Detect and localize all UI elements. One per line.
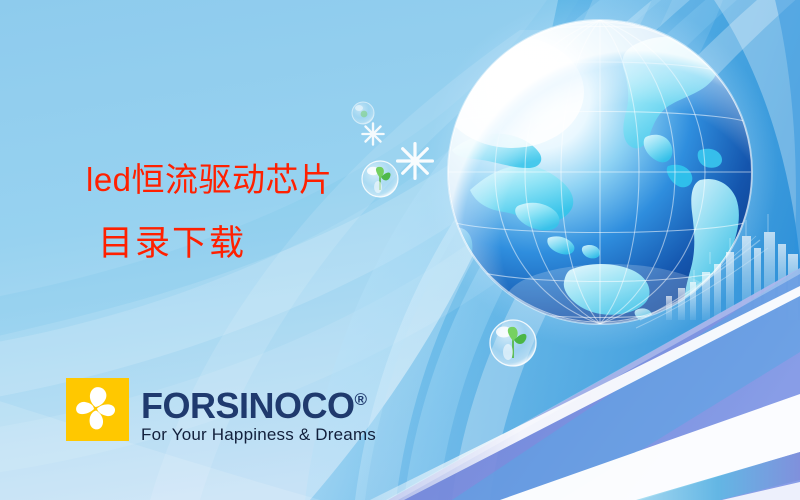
headline-line-2: 目录下载 — [98, 224, 333, 264]
banner-image: led恒流驱动芯片 目录下载 FORSINOCO® For Your Happi… — [0, 0, 800, 500]
logo-wordmark: FORSINOCO® — [141, 382, 376, 424]
headline-line-1: led恒流驱动芯片 — [86, 160, 333, 200]
logo-wordmark-text: FORSINOCO — [141, 385, 355, 426]
logo-lockup-text: FORSINOCO® For Your Happiness & Dreams — [141, 378, 376, 445]
forsinoco-logo: FORSINOCO® For Your Happiness & Dreams — [66, 378, 376, 445]
logo-tagline: For Your Happiness & Dreams — [141, 425, 376, 445]
registered-trademark-icon: ® — [355, 390, 368, 409]
headline-text: led恒流驱动芯片 目录下载 — [86, 160, 333, 264]
pinwheel-flower-icon — [66, 378, 129, 441]
